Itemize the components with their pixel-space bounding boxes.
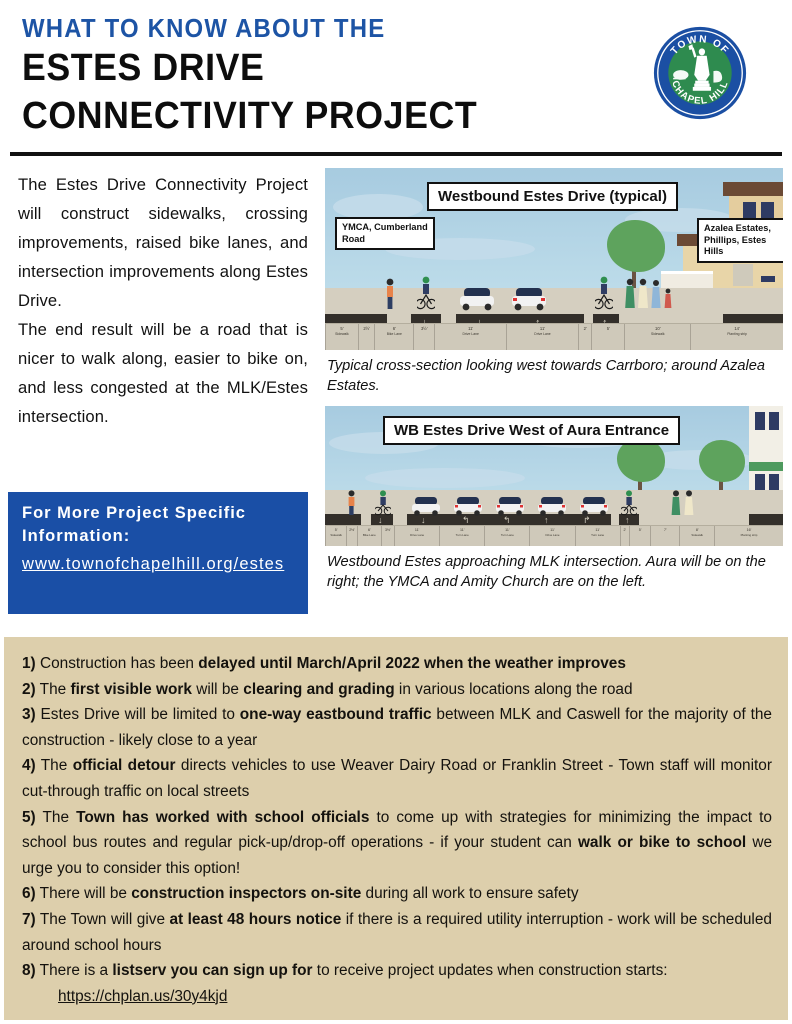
more-info-title: For More Project Specific Information: (22, 502, 300, 548)
dimension-cell: 10'Sidewalk (624, 324, 690, 350)
key-fact-emphasis: one-way eastbound traffic (240, 706, 432, 723)
dimension-cell: 11'Drive Lane (529, 526, 574, 546)
dimension-cell: 5' (629, 526, 650, 546)
key-fact-emphasis: construction inspectors on-site (131, 885, 361, 902)
dimension-cell: 2½' (346, 526, 357, 546)
dimension-bar-2: 5'Sidewalk2½'6'Bike Lane3½'11'Drive Lane… (325, 525, 783, 546)
figure-wb-west-of-aura: ↓ ↓ ↰ ↰ ↑ ↱ ↑ (325, 406, 783, 592)
key-fact-item: 3) Estes Drive will be limited to one-wa… (22, 702, 772, 753)
intro-paragraph-2: The end result will be a road that is ni… (18, 315, 308, 431)
poster-header: WHAT TO KNOW ABOUT THE ESTES DRIVE CONNE… (0, 0, 792, 155)
cyclist-icon (621, 490, 637, 521)
dimension-bar-1: 5'Sidewalk2½'6'Bike Lane3½'11'Drive Lane… (325, 323, 783, 350)
key-fact-text: The (36, 809, 76, 826)
figure-1-left-note: YMCA, Cumberland Road (335, 217, 435, 250)
key-fact-text: The (36, 757, 73, 774)
key-fact-text: There will be (36, 885, 132, 902)
cyclist-icon (375, 490, 391, 521)
intro-paragraph-1: The Estes Drive Connectivity Project wil… (18, 170, 308, 315)
car-icon (459, 284, 495, 317)
dimension-cell: 11'Turn Lane (484, 526, 529, 546)
key-fact-text: Construction has been (36, 655, 199, 672)
figure-2-caption: Westbound Estes approaching MLK intersec… (327, 552, 779, 592)
cyclist-icon (417, 276, 435, 315)
key-facts-panel: 1) Construction has been delayed until M… (4, 637, 788, 1020)
key-fact-text: will be (192, 681, 243, 698)
dimension-cell: 11'Turn Lane (575, 526, 620, 546)
key-fact-number: 5) (22, 809, 36, 826)
key-fact-emphasis: Town has worked with school officials (76, 809, 369, 826)
pedestrian-group-icon (671, 490, 699, 521)
key-fact-text: There is a (36, 962, 113, 979)
key-fact-text: in various locations along the road (395, 681, 633, 698)
key-fact-emphasis: walk or bike to school (578, 834, 746, 851)
key-facts-list: 1) Construction has been delayed until M… (22, 651, 772, 1009)
key-fact-text: The (36, 681, 71, 698)
dimension-cell: 2' (620, 526, 629, 546)
dimension-cell: 5'Sidewalk (325, 526, 346, 546)
key-fact-item: 8) There is a listserv you can sign up f… (22, 958, 772, 984)
dimension-cell: 3½' (381, 526, 394, 546)
dimension-cell: 8'Sidewalk (679, 526, 714, 546)
pedestrian-icon (385, 278, 395, 315)
tree-canopy-icon (607, 220, 665, 272)
dimension-cell: 6'Bike Lane (374, 324, 413, 350)
header-divider (10, 152, 782, 156)
more-info-box: For More Project Specific Information: w… (8, 492, 308, 614)
dimension-cell: 6'Bike Lane (357, 526, 381, 546)
pedestrian-icon (347, 490, 356, 521)
key-fact-item: 1) Construction has been delayed until M… (22, 651, 772, 677)
project-website-link[interactable]: www.townofchapelhill.org/estes (22, 552, 304, 577)
poster-page: WHAT TO KNOW ABOUT THE ESTES DRIVE CONNE… (0, 0, 792, 1024)
car-icon (411, 494, 441, 521)
key-fact-item: 7) The Town will give at least 48 hours … (22, 907, 772, 958)
key-fact-emphasis: at least 48 hours notice (169, 911, 341, 928)
pedestrian-group-icon (625, 278, 677, 317)
key-fact-emphasis: delayed until March/April 2022 when the … (198, 655, 626, 672)
car-icon (453, 494, 483, 521)
figure-1-title: Westbound Estes Drive (typical) (427, 182, 678, 211)
intro-column: The Estes Drive Connectivity Project wil… (18, 170, 308, 431)
key-fact-emphasis: official detour (73, 757, 176, 774)
dimension-cell: 7' (650, 526, 679, 546)
key-fact-number: 2) (22, 681, 36, 698)
dimension-cell: 2½' (358, 324, 374, 350)
key-fact-text: The Town will give (36, 911, 170, 928)
figure-1-caption: Typical cross-section looking west towar… (327, 356, 779, 396)
key-fact-text: Estes Drive will be limited to (36, 706, 240, 723)
key-fact-text: to receive project updates when construc… (313, 962, 668, 979)
car-icon (579, 494, 609, 521)
dimension-cell: 11'Drive Lane (394, 526, 439, 546)
key-fact-emphasis: first visible work (70, 681, 191, 698)
cross-section-illustration-1: ↓ ↓ ↑ ↑ (325, 168, 783, 350)
listserv-signup-link[interactable]: https://chplan.us/30y4kjd (58, 984, 772, 1010)
key-fact-item: 6) There will be construction inspectors… (22, 881, 772, 907)
dimension-cell: 5'Sidewalk (325, 324, 358, 350)
key-fact-number: 4) (22, 757, 36, 774)
dimension-cell: 11'Drive Lane (434, 324, 506, 350)
figures-column: ↓ ↓ ↑ ↑ (325, 168, 783, 602)
key-fact-number: 7) (22, 911, 36, 928)
dimension-cell: 5' (591, 324, 624, 350)
page-title-line1: ESTES DRIVE (22, 49, 264, 87)
key-fact-emphasis: clearing and grading (243, 681, 394, 698)
cyclist-icon (595, 276, 613, 315)
key-fact-number: 3) (22, 706, 36, 723)
figure-westbound-typical: ↓ ↓ ↑ ↑ (325, 168, 783, 396)
dimension-cell: 14'Planting strip (690, 324, 783, 350)
figure-1-right-note: Azalea Estates, Phillips, Estes Hills (697, 218, 783, 263)
page-title-line2: CONNECTIVITY PROJECT (22, 97, 477, 135)
car-icon (537, 494, 567, 521)
cross-section-illustration-2: ↓ ↓ ↰ ↰ ↑ ↱ ↑ (325, 406, 783, 546)
dimension-cell: 16'Planting strip (714, 526, 783, 546)
header-kicker: WHAT TO KNOW ABOUT THE (22, 13, 385, 44)
key-fact-number: 1) (22, 655, 36, 672)
key-fact-item: 5) The Town has worked with school offic… (22, 805, 772, 882)
key-fact-text: during all work to ensure safety (361, 885, 578, 902)
dimension-cell: 2' (578, 324, 591, 350)
dimension-cell: 11'Drive Lane (506, 324, 578, 350)
key-fact-emphasis: listserv you can sign up for (112, 962, 312, 979)
figure-2-title: WB Estes Drive West of Aura Entrance (383, 416, 680, 445)
key-fact-number: 6) (22, 885, 36, 902)
key-fact-item: 2) The first visible work will be cleari… (22, 677, 772, 703)
dimension-cell: 3½' (413, 324, 434, 350)
car-icon (495, 494, 525, 521)
key-fact-item: 4) The official detour directs vehicles … (22, 753, 772, 804)
key-fact-number: 8) (22, 962, 36, 979)
town-of-chapel-hill-seal-icon: TOWN OF CHAPEL HILL (652, 25, 748, 121)
car-icon (511, 284, 547, 317)
dimension-cell: 11'Turn Lane (439, 526, 484, 546)
